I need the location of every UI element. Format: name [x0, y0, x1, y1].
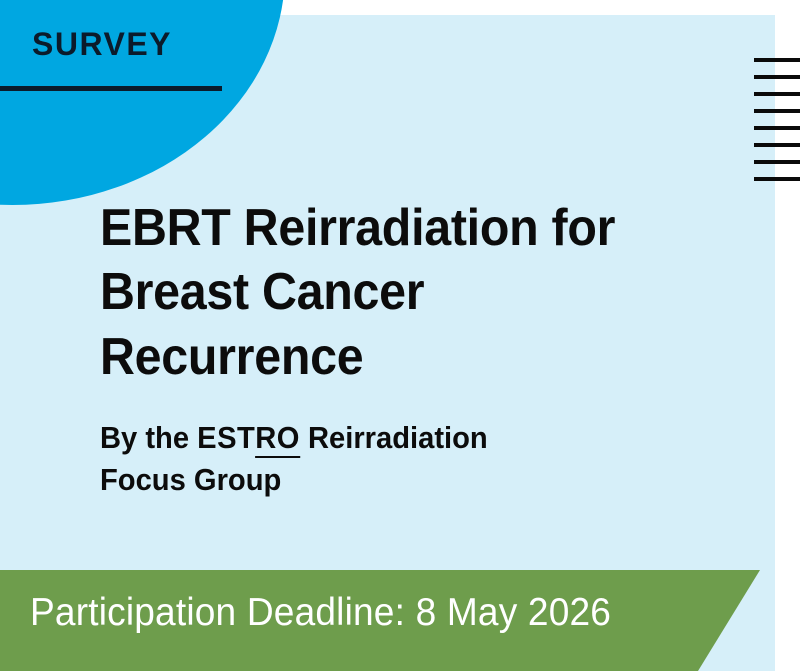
horizontal-line-stack-decoration — [754, 58, 800, 194]
byline-prefix: By the — [100, 420, 197, 455]
byline-suffix: Reirradiation — [300, 420, 488, 455]
estro-ro-part: RO — [255, 420, 300, 458]
stack-line — [754, 143, 800, 147]
deadline-text: Participation Deadline: 8 May 2026 — [30, 591, 611, 635]
stack-line — [754, 160, 800, 164]
stack-line — [754, 109, 800, 113]
survey-underline-rule — [0, 86, 222, 91]
stack-line — [754, 58, 800, 62]
poster-content: EBRT Reirradiation for Breast Cancer Rec… — [100, 196, 710, 500]
stack-line — [754, 75, 800, 79]
headline-line-1: EBRT Reirradiation for — [100, 199, 615, 257]
survey-eyebrow-group: SURVEY — [32, 28, 292, 60]
stack-line — [754, 177, 800, 181]
stack-line — [754, 126, 800, 130]
byline: By the ESTRO Reirradiation Focus Group — [100, 417, 673, 499]
page-title: EBRT Reirradiation for Breast Cancer Rec… — [100, 196, 667, 389]
poster-canvas: SURVEY EBRT Reirradiation for Breast Can… — [0, 0, 800, 671]
survey-eyebrow-label: SURVEY — [32, 28, 292, 60]
byline-line-2: Focus Group — [100, 462, 281, 497]
estro-est-part: EST — [197, 420, 255, 455]
stack-line — [754, 92, 800, 96]
estro-logotype: ESTRO — [197, 420, 300, 458]
headline-line-2: Breast Cancer Recurrence — [100, 263, 424, 385]
